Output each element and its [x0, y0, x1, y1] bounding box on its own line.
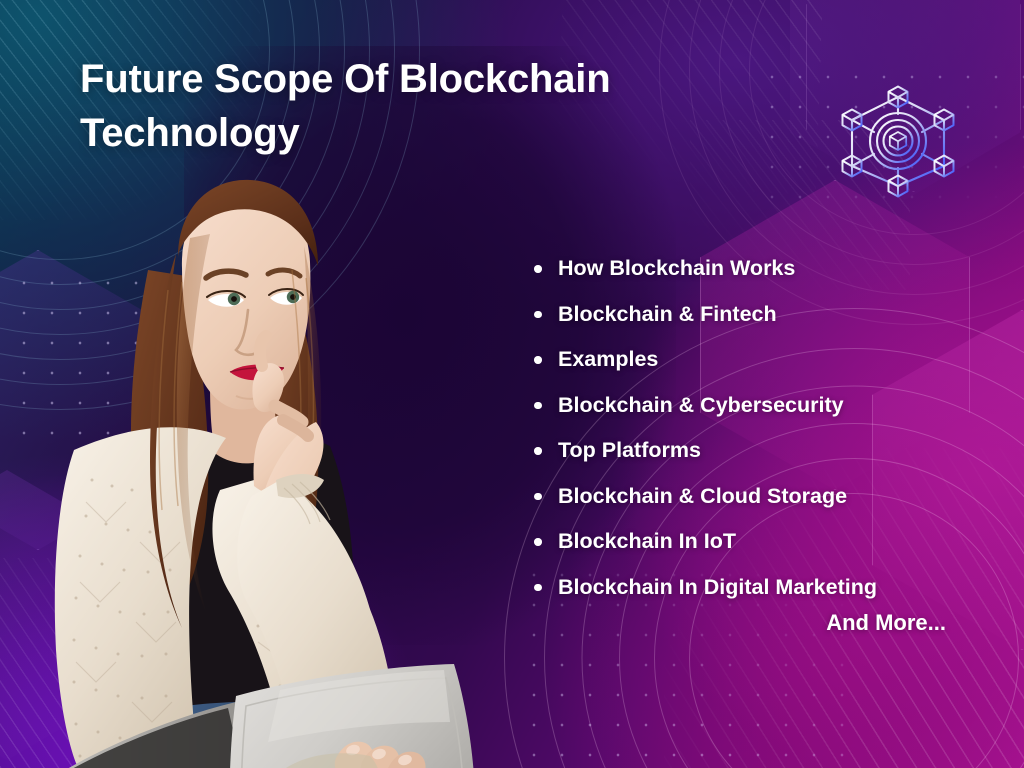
list-item-label: Blockchain In Digital Marketing: [558, 575, 877, 600]
list-item: Examples: [528, 337, 968, 383]
list-item-label: Blockchain & Cybersecurity: [558, 393, 844, 418]
topic-list: How Blockchain Works Blockchain & Fintec…: [528, 246, 968, 610]
list-item-label: Blockchain & Cloud Storage: [558, 484, 847, 509]
list-item: How Blockchain Works: [528, 246, 968, 292]
woman-with-laptop-photo: [40, 150, 580, 768]
list-item: Top Platforms: [528, 428, 968, 474]
blockchain-banner: Future Scope Of Blockchain Technology Ho…: [0, 0, 1024, 768]
blockchain-network-icon: [826, 74, 970, 198]
list-item: Blockchain In Digital Marketing: [528, 565, 968, 611]
list-item-label: Top Platforms: [558, 438, 701, 463]
list-item-label: How Blockchain Works: [558, 256, 795, 281]
list-item: Blockchain & Cloud Storage: [528, 474, 968, 520]
list-item: Blockchain & Cybersecurity: [528, 383, 968, 429]
list-item-label: Examples: [558, 347, 658, 372]
list-item-label: Blockchain In IoT: [558, 529, 736, 554]
list-item-label: Blockchain & Fintech: [558, 302, 777, 327]
list-item: Blockchain & Fintech: [528, 292, 968, 338]
page-title: Future Scope Of Blockchain Technology: [80, 52, 720, 160]
list-item: Blockchain In IoT: [528, 519, 968, 565]
and-more-label: And More...: [528, 610, 946, 636]
